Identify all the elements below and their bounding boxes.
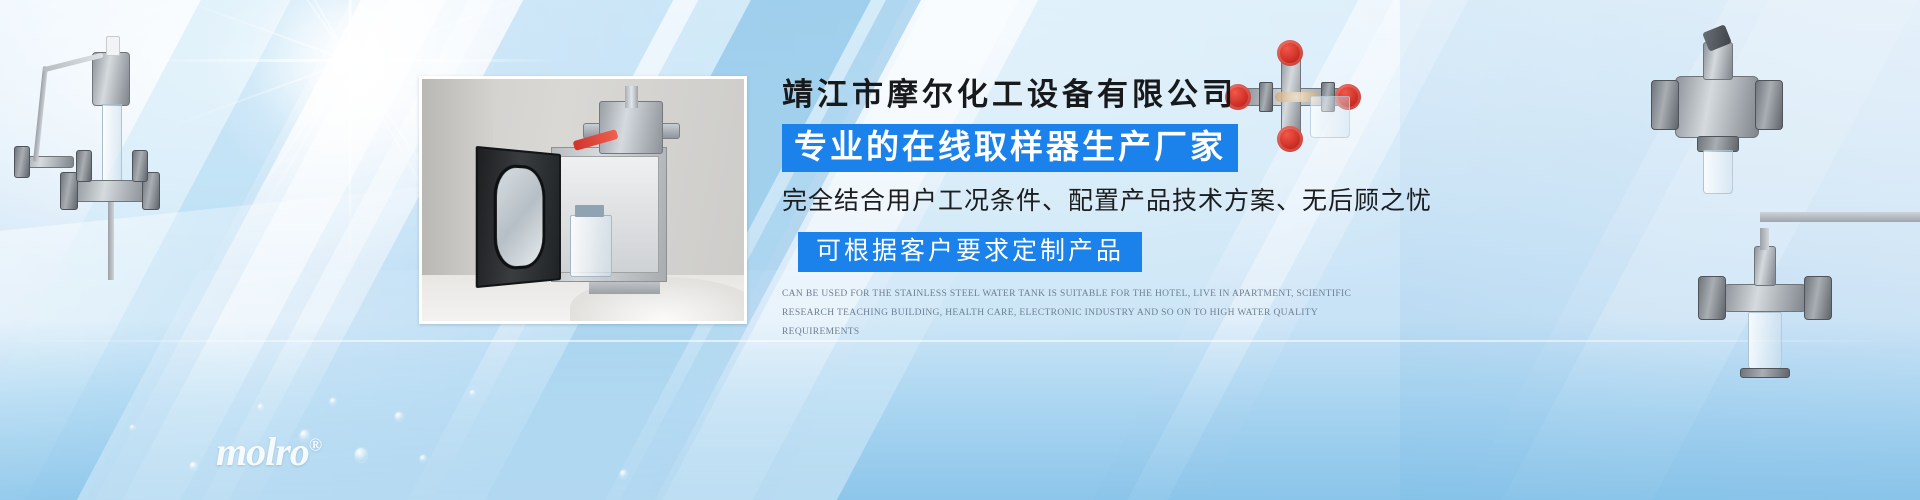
water-droplet	[258, 404, 263, 410]
subheadline: 完全结合用户工况条件、配置产品技术方案、无后顾之忧	[782, 186, 1402, 216]
banner-copy: 靖江市摩尔化工设备有限公司 专业的在线取样器生产厂家 完全结合用户工况条件、配置…	[782, 78, 1402, 341]
valve-head	[599, 101, 663, 154]
sample-bottle	[570, 215, 612, 278]
product-photo-image	[422, 79, 744, 321]
water-droplet	[190, 462, 197, 470]
cabinet-door	[475, 146, 560, 288]
headline-badge: 专业的在线取样器生产厂家	[782, 124, 1238, 172]
water-droplet	[330, 398, 336, 405]
water-droplet	[395, 412, 403, 421]
brand-watermark: molro®	[216, 432, 322, 472]
water-droplet	[130, 425, 135, 430]
brand-watermark-text: molro	[216, 429, 309, 474]
water-droplet	[620, 470, 627, 478]
promo-banner: 靖江市摩尔化工设备有限公司 专业的在线取样器生产厂家 完全结合用户工况条件、配置…	[0, 0, 1920, 500]
english-caption: CAN BE USED FOR THE STAINLESS STEEL WATE…	[782, 285, 1387, 341]
water-droplet	[470, 390, 475, 396]
water-droplet	[355, 448, 367, 462]
custom-product-pill: 可根据客户要求定制产品	[798, 232, 1142, 273]
water-droplet	[420, 455, 426, 462]
registered-trademark-icon: ®	[309, 435, 322, 455]
product-photo[interactable]	[419, 76, 747, 324]
company-name: 靖江市摩尔化工设备有限公司	[782, 78, 1402, 112]
